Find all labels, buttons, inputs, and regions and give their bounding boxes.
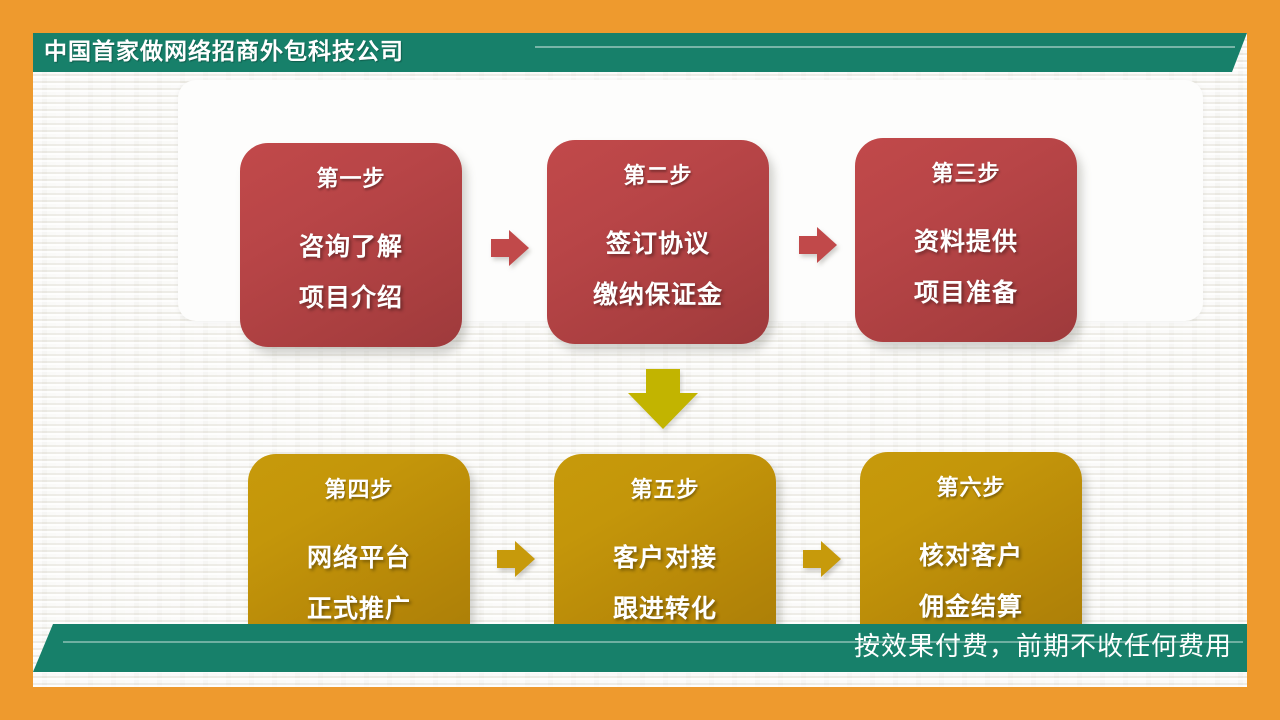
step-card-5-title: 第五步 [554, 476, 776, 506]
step-card-1-line-2: 项目介绍 [240, 272, 462, 323]
arrow-right-icon-step2-step3 [799, 227, 837, 263]
step-card-1[interactable]: 第一步 咨询了解 项目介绍 [240, 143, 462, 347]
step-card-3-line-2: 项目准备 [855, 267, 1077, 318]
header-hairline-divider [535, 46, 1235, 48]
arrow-down-icon-row1-row2 [628, 369, 698, 429]
arrow-head [509, 230, 529, 266]
step-card-3-title: 第三步 [855, 160, 1077, 190]
step-card-6-body: 核对客户 佣金结算 [860, 530, 1082, 632]
step-card-4-line-1: 网络平台 [248, 532, 470, 583]
step-card-3-body: 资料提供 项目准备 [855, 216, 1077, 318]
step-card-5-line-1: 客户对接 [554, 532, 776, 583]
step-card-2-line-2: 缴纳保证金 [547, 269, 769, 320]
arrow-shaft [491, 239, 511, 257]
header-band: 中国首家做网络招商外包科技公司 [33, 33, 1247, 72]
arrow-right-icon-step4-step5 [497, 541, 535, 577]
step-card-6-title: 第六步 [860, 474, 1082, 504]
step-card-3-line-1: 资料提供 [855, 216, 1077, 267]
step-card-2-title: 第二步 [547, 162, 769, 192]
arrow-right-icon-step5-step6 [803, 541, 841, 577]
step-card-2[interactable]: 第二步 签订协议 缴纳保证金 [547, 140, 769, 344]
arrow-head [515, 541, 535, 577]
step-card-2-body: 签订协议 缴纳保证金 [547, 218, 769, 320]
slide-root: 中国首家做网络招商外包科技公司 第一步 咨询了解 项目介绍 第二步 签订协议 缴… [0, 0, 1280, 720]
footer-tagline: 按效果付费，前期不收任何费用 [854, 629, 1232, 665]
arrow-shaft [646, 369, 680, 395]
arrow-right-icon-step1-step2 [491, 230, 529, 266]
step-card-2-line-1: 签订协议 [547, 218, 769, 269]
step-card-5-body: 客户对接 跟进转化 [554, 532, 776, 634]
arrow-head [817, 227, 837, 263]
header-title: 中国首家做网络招商外包科技公司 [44, 39, 404, 66]
step-card-1-line-1: 咨询了解 [240, 221, 462, 272]
step-card-1-body: 咨询了解 项目介绍 [240, 221, 462, 323]
step-card-3[interactable]: 第三步 资料提供 项目准备 [855, 138, 1077, 342]
footer-band: 按效果付费，前期不收任何费用 [33, 624, 1247, 672]
step-card-4-title: 第四步 [248, 476, 470, 506]
arrow-shaft [803, 550, 823, 568]
arrow-shaft [497, 550, 517, 568]
arrow-shaft [799, 236, 819, 254]
step-card-1-title: 第一步 [240, 165, 462, 195]
step-card-6-line-1: 核对客户 [860, 530, 1082, 581]
arrow-head [821, 541, 841, 577]
step-card-4-body: 网络平台 正式推广 [248, 532, 470, 634]
arrow-head [628, 393, 698, 429]
slide-canvas: 中国首家做网络招商外包科技公司 第一步 咨询了解 项目介绍 第二步 签订协议 缴… [33, 33, 1247, 687]
